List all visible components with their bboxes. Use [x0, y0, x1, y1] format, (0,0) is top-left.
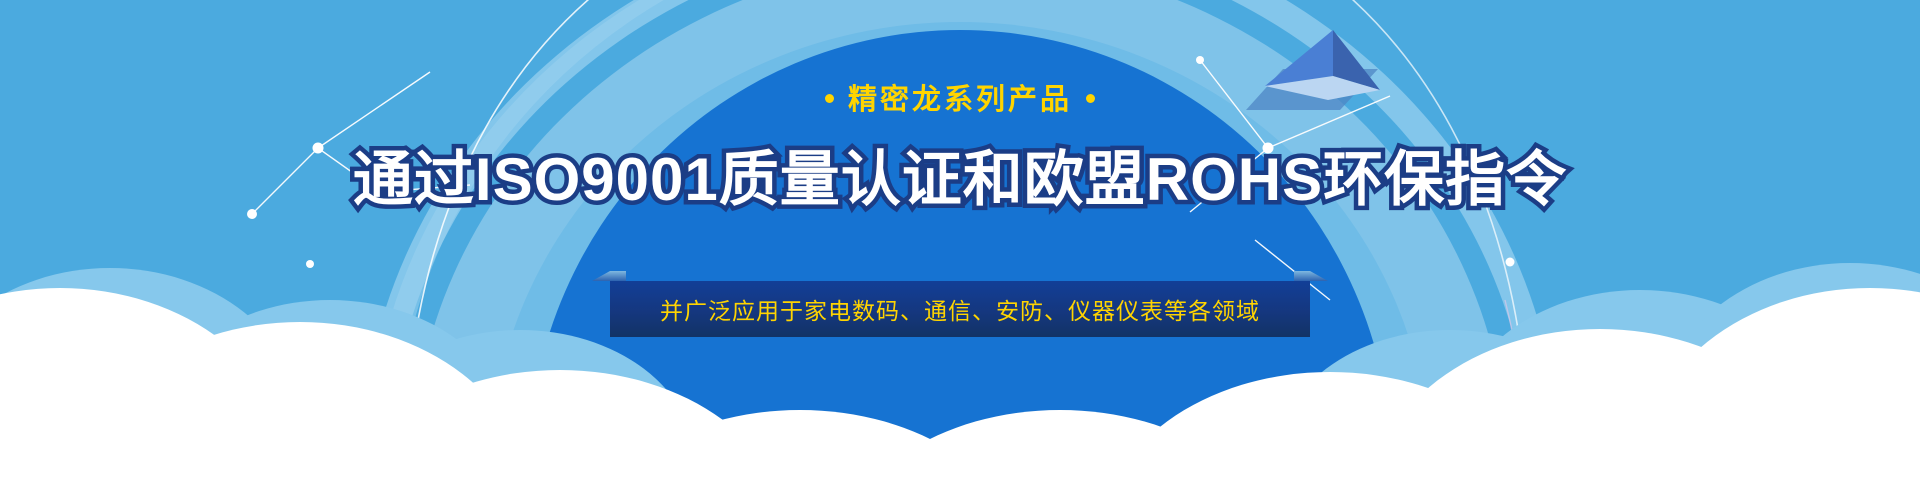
- ribbon-text: 并广泛应用于家电数码、通信、安防、仪器仪表等各领域: [660, 292, 1260, 326]
- eyebrow-line: 精密龙系列产品: [0, 76, 1920, 118]
- ribbon-body: 并广泛应用于家电数码、通信、安防、仪器仪表等各领域: [610, 281, 1310, 337]
- eyebrow-text: 精密龙系列产品: [848, 84, 1072, 116]
- cloud-cluster-white: [0, 0, 1920, 480]
- bullet-dot-right-icon: [1086, 94, 1095, 103]
- promo-banner: 精密龙系列产品 通过ISO9001质量认证和欧盟ROHS环保指令 并广泛应用于家…: [0, 0, 1920, 480]
- headline-text: 通过ISO9001质量认证和欧盟ROHS环保指令: [0, 145, 1920, 214]
- subtitle-ribbon: 并广泛应用于家电数码、通信、安防、仪器仪表等各领域: [610, 281, 1310, 337]
- bullet-dot-left-icon: [825, 94, 834, 103]
